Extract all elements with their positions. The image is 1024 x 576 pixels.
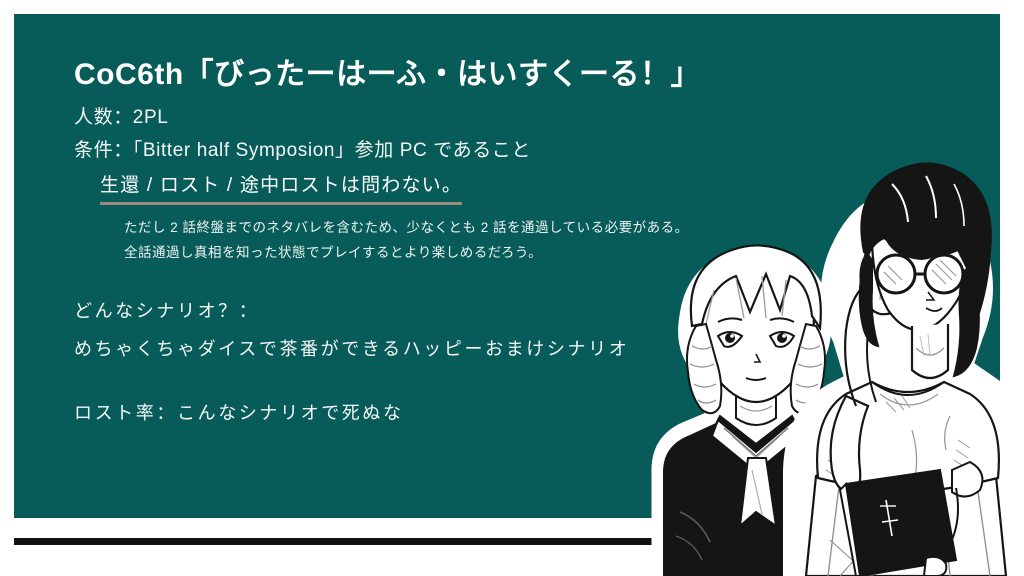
book-title-stroke-3 [882, 520, 898, 522]
spoiler-note-line-2: 全話通過し真相を知った状態でプレイするとより楽しめるだろう。 [124, 246, 794, 260]
lost-rate-line: ロスト率：こんなシナリオで死ぬな [74, 404, 794, 422]
condition-line: 条件：「Bitter half Symposion」参加 PC であること [74, 141, 794, 160]
slide-root: CoC6th「びったーはーふ・はいすくーる！」 人数：2PL 条件：「Bitte… [0, 0, 1024, 576]
players-count-line: 人数：2PL [74, 108, 794, 127]
text-spacer-upper [74, 272, 794, 302]
skirt-cross-2 [840, 540, 872, 576]
text-spacer-lower [74, 378, 794, 404]
survival-status-line: 生還 / ロスト / 途中ロストは問わない。 [100, 170, 462, 205]
skirt-cross-1 [830, 540, 870, 576]
spoiler-note-line-1: ただし 2 話終盤までのネタバレを含むため、少なくとも 2 話を通過している必要… [124, 221, 794, 235]
scenario-question-label: どんなシナリオ？： [74, 302, 794, 320]
bottom-divider-rule [14, 538, 1000, 545]
scenario-question-answer: めちゃくちゃダイスで茶番ができるハッピーおまけシナリオ [74, 340, 794, 358]
slide-text-block: CoC6th「びったーはーふ・はいすくーる！」 人数：2PL 条件：「Bitte… [74, 56, 794, 442]
page-title: CoC6th「びったーはーふ・はいすくーる！」 [74, 56, 794, 94]
right-hand [924, 557, 946, 576]
underlined-line-wrap: 生還 / ロスト / 途中ロストは問わない。 [74, 170, 794, 211]
